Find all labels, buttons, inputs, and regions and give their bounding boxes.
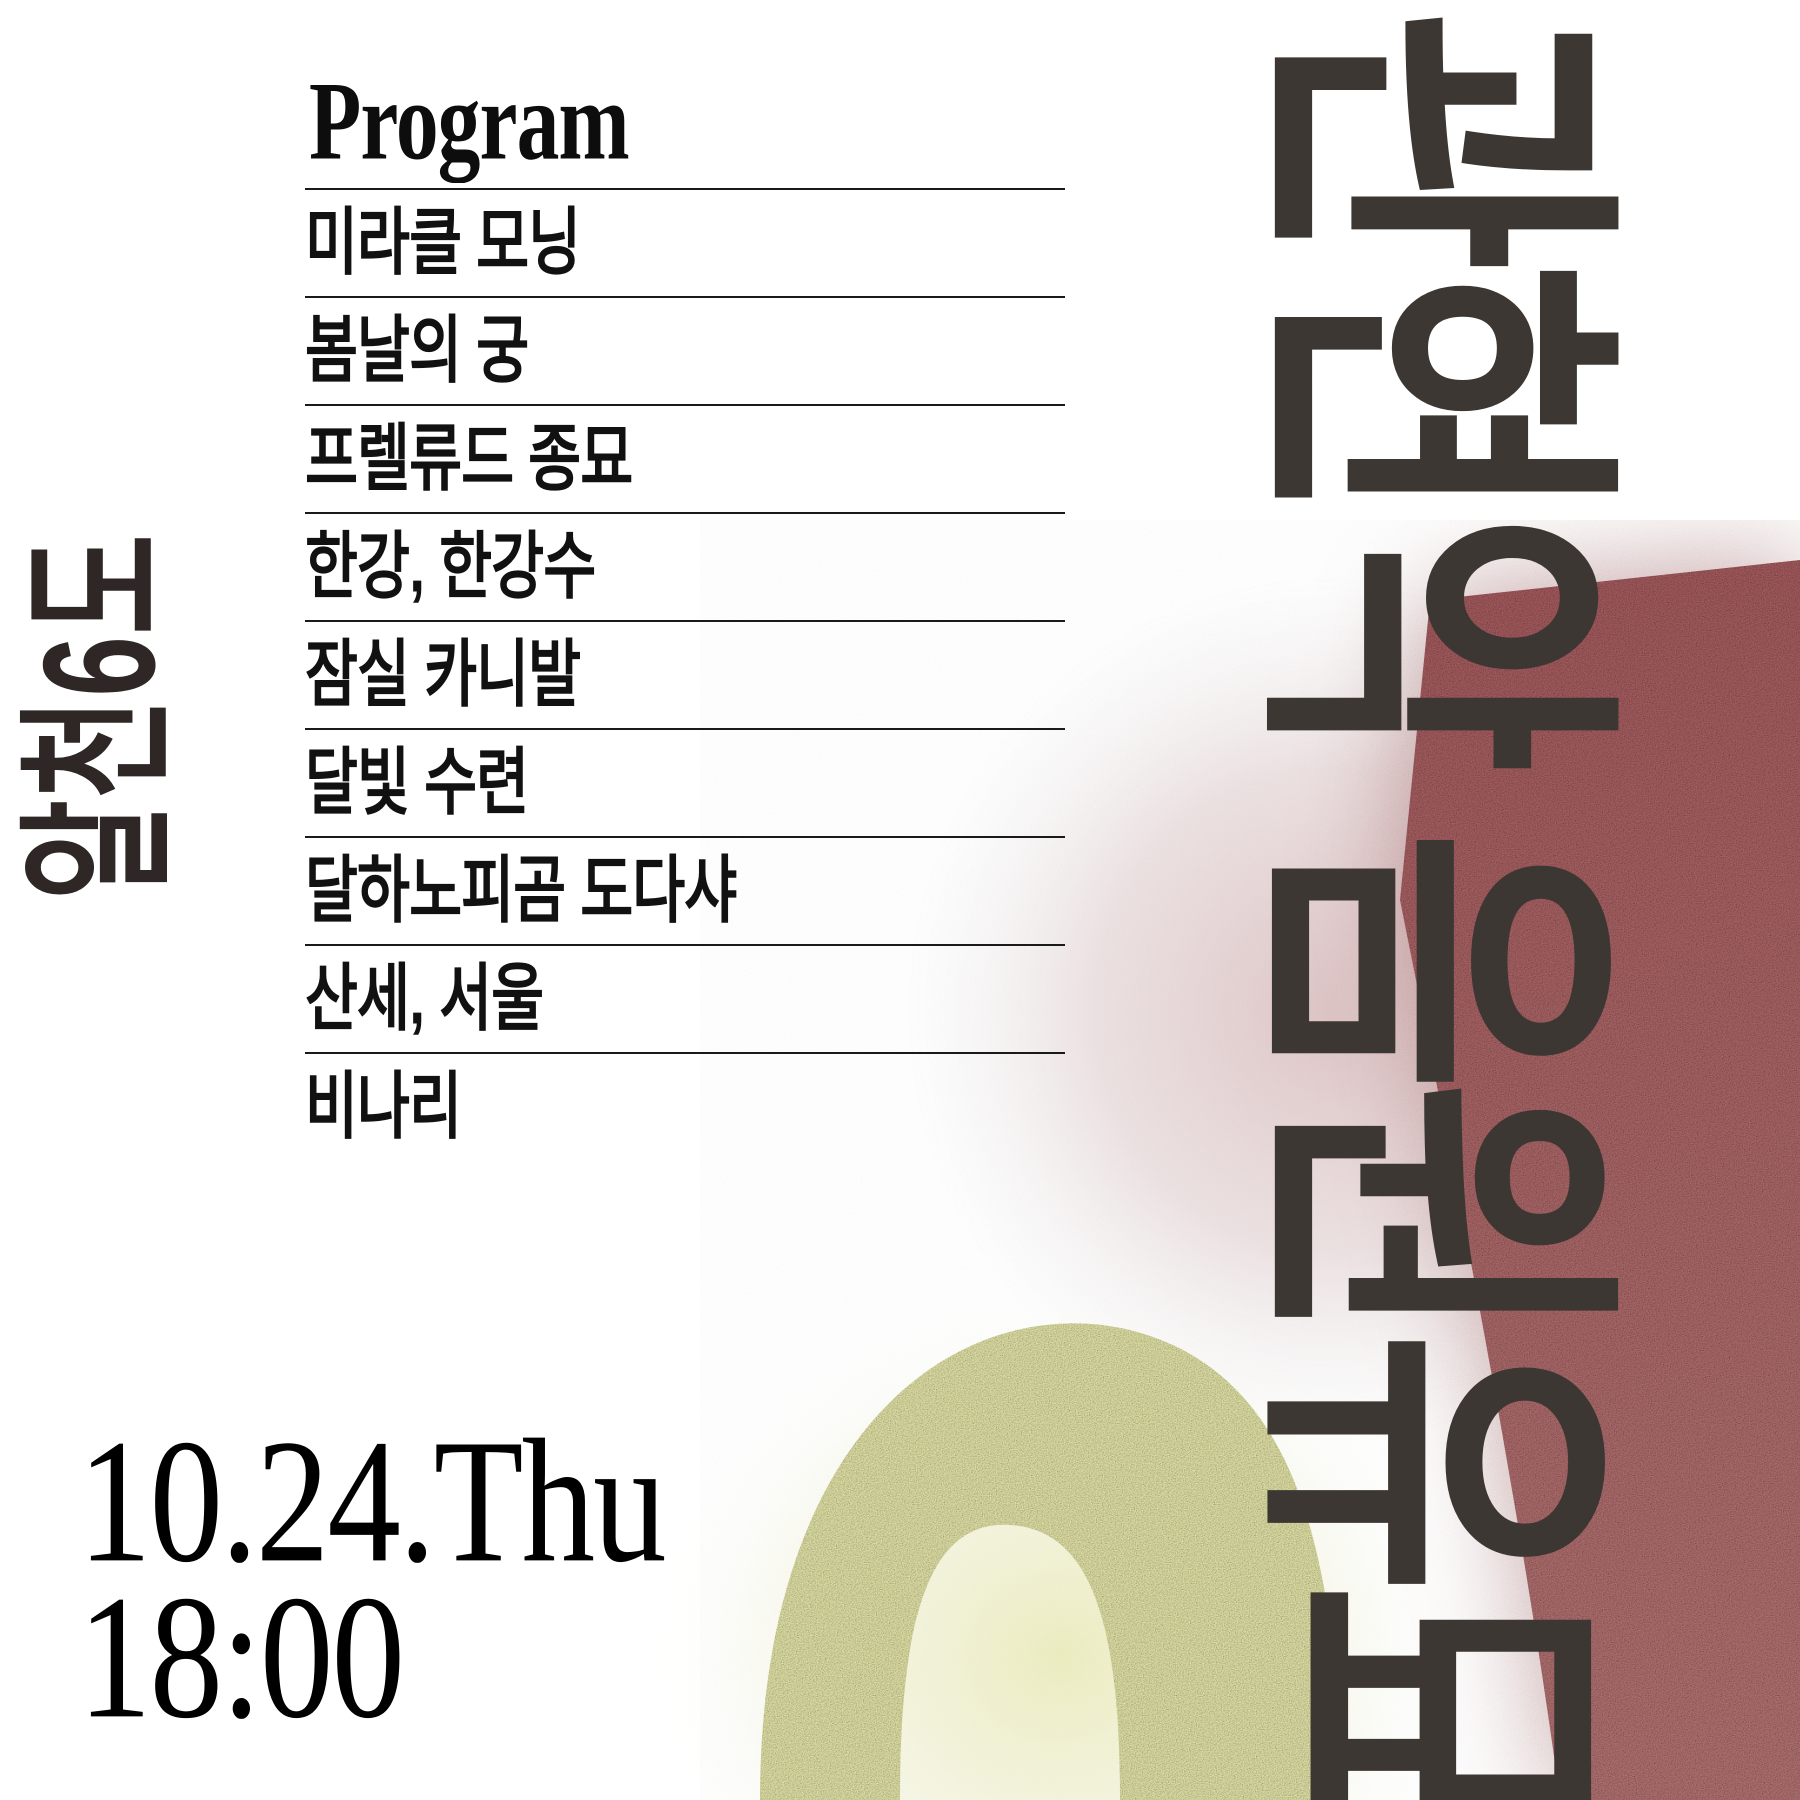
left-vertical-tag: 알천6도 [0, 340, 200, 900]
list-item: 잠실 카니발 [305, 620, 1065, 728]
list-item: 한강, 한강수 [305, 512, 1065, 620]
list-item: 프렐류드 종묘 [305, 404, 1065, 512]
poster-vertical-title: 관현악 음원유묘 [1160, 0, 1620, 1200]
list-item: 달하노피곰 도다샤 [305, 836, 1065, 944]
program-item-label: 프렐류드 종묘 [305, 422, 632, 495]
program-section: Program 미라클 모닝 봄날의 궁 프렐류드 종묘 한강, 한강수 잠실 … [305, 62, 1065, 1160]
program-item-label: 비나리 [305, 1070, 461, 1143]
list-item: 봄날의 궁 [305, 296, 1065, 404]
list-item: 비나리 [305, 1052, 1065, 1160]
left-vertical-tag-label: 알천6도 [20, 533, 179, 900]
poster-vertical-title-text: 관현악 음원유묘 [1245, 10, 1620, 1800]
list-item: 산세, 서울 [305, 944, 1065, 1052]
program-item-label: 산세, 서울 [305, 962, 543, 1035]
program-item-label: 한강, 한강수 [305, 530, 595, 603]
list-item: 달빛 수련 [305, 728, 1065, 836]
program-heading: Program [309, 62, 1012, 199]
schedule-time: 18:00 [78, 1576, 665, 1739]
program-item-label: 봄날의 궁 [305, 314, 528, 387]
poster-canvas: 알천6도 관현악 음원유묘 Program 미라클 모닝 봄날의 궁 프렐류드 … [0, 0, 1800, 1800]
schedule-block: 10.24.Thu 18:00 [78, 1420, 677, 1714]
program-list: 미라클 모닝 봄날의 궁 프렐류드 종묘 한강, 한강수 잠실 카니발 달빛 수… [305, 188, 1065, 1160]
program-item-label: 달빛 수련 [305, 746, 528, 819]
program-item-label: 미라클 모닝 [305, 206, 580, 279]
schedule-date: 10.24.Thu [78, 1420, 665, 1583]
program-item-label: 잠실 카니발 [305, 638, 580, 711]
list-item: 미라클 모닝 [305, 188, 1065, 296]
program-item-label: 달하노피곰 도다샤 [305, 854, 736, 927]
